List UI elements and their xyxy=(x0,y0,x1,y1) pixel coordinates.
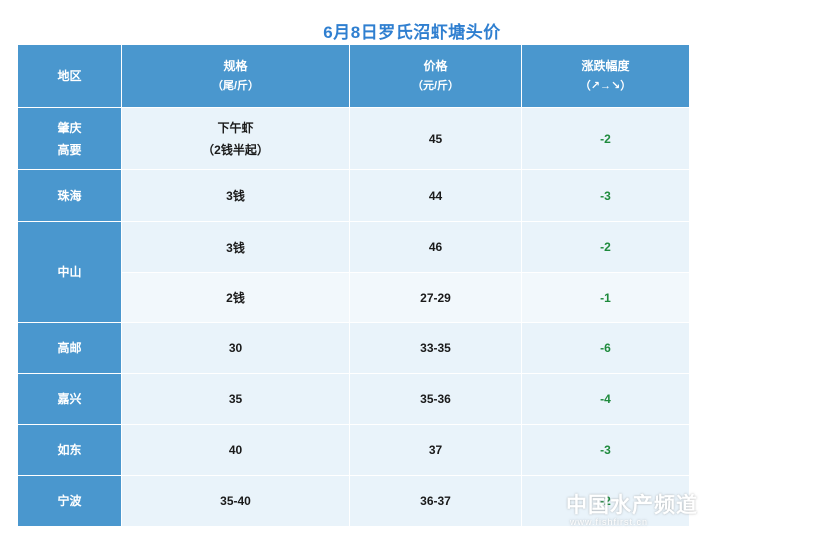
row-change-cell: -2 xyxy=(522,108,690,170)
row-price-cell: 35-36 xyxy=(350,374,522,425)
row-price-cell: 33-35 xyxy=(350,323,522,374)
row-region-line1: 肇庆 xyxy=(18,117,121,139)
column-header-price-sub: （元/斤） xyxy=(350,76,521,96)
row-change-cell: -3 xyxy=(522,170,690,222)
column-header-change-sub: （↗→↘） xyxy=(522,76,689,96)
row-spec-cell: 35-40 xyxy=(122,476,350,527)
row-change-cell: -2 xyxy=(522,222,690,273)
row-price-cell: 27-29 xyxy=(350,273,522,323)
row-spec-line1: 下午虾 xyxy=(122,117,349,139)
column-header-region: 地区 xyxy=(18,45,122,108)
row-spec-line2: （2钱半起） xyxy=(122,139,349,161)
column-header-region-main: 地区 xyxy=(18,66,121,86)
table-row: 如东 40 37 -3 xyxy=(18,425,690,476)
column-header-spec: 规格 （尾/斤） xyxy=(122,45,350,108)
page-root: 6月8日罗氏沼虾塘头价 地区 规格 （尾/斤） 价格 （元/斤） 涨跌幅度 xyxy=(0,0,824,543)
row-change-cell: -1 xyxy=(522,273,690,323)
row-region-cell: 中山 xyxy=(18,222,122,323)
table-row: 肇庆 高要 下午虾 （2钱半起） 45 -2 xyxy=(18,108,690,170)
row-region-cell: 如东 xyxy=(18,425,122,476)
row-region-cell: 嘉兴 xyxy=(18,374,122,425)
row-region-cell: 高邮 xyxy=(18,323,122,374)
row-price-cell: 36-37 xyxy=(350,476,522,527)
table-row: 宁波 35-40 36-37 -2 xyxy=(18,476,690,527)
row-region-cell: 珠海 xyxy=(18,170,122,222)
table-row: 珠海 3钱 44 -3 xyxy=(18,170,690,222)
globe-icon xyxy=(740,481,814,539)
column-header-change-main: 涨跌幅度 xyxy=(522,56,689,76)
column-header-change: 涨跌幅度 （↗→↘） xyxy=(522,45,690,108)
row-spec-cell: 3钱 xyxy=(122,222,350,273)
row-region-cell: 宁波 xyxy=(18,476,122,527)
table-row: 高邮 30 33-35 -6 xyxy=(18,323,690,374)
row-region-cell: 肇庆 高要 xyxy=(18,108,122,170)
row-price-cell: 45 xyxy=(350,108,522,170)
column-header-spec-sub: （尾/斤） xyxy=(122,76,349,96)
row-price-cell: 37 xyxy=(350,425,522,476)
page-title: 6月8日罗氏沼虾塘头价 xyxy=(0,18,824,43)
table-header: 地区 规格 （尾/斤） 价格 （元/斤） 涨跌幅度 （↗→↘） xyxy=(18,45,690,108)
row-change-cell: -2 xyxy=(522,476,690,527)
row-change-cell: -6 xyxy=(522,323,690,374)
price-table: 地区 规格 （尾/斤） 价格 （元/斤） 涨跌幅度 （↗→↘） 肇 xyxy=(17,44,690,527)
row-spec-cell: 2钱 xyxy=(122,273,350,323)
table-header-row: 地区 规格 （尾/斤） 价格 （元/斤） 涨跌幅度 （↗→↘） xyxy=(18,45,690,108)
row-change-cell: -3 xyxy=(522,425,690,476)
row-spec-cell: 3钱 xyxy=(122,170,350,222)
row-change-cell: -4 xyxy=(522,374,690,425)
row-spec-cell: 下午虾 （2钱半起） xyxy=(122,108,350,170)
row-spec-cell: 35 xyxy=(122,374,350,425)
row-price-cell: 44 xyxy=(350,170,522,222)
table-row: 中山 3钱 46 -2 xyxy=(18,222,690,273)
column-header-price-main: 价格 xyxy=(350,56,521,76)
row-spec-cell: 40 xyxy=(122,425,350,476)
row-spec-cell: 30 xyxy=(122,323,350,374)
table-body: 肇庆 高要 下午虾 （2钱半起） 45 -2 珠海 3钱 44 -3 中山 3钱 xyxy=(18,108,690,527)
column-header-spec-main: 规格 xyxy=(122,56,349,76)
column-header-price: 价格 （元/斤） xyxy=(350,45,522,108)
row-region-line2: 高要 xyxy=(18,139,121,161)
table-row: 嘉兴 35 35-36 -4 xyxy=(18,374,690,425)
row-price-cell: 46 xyxy=(350,222,522,273)
